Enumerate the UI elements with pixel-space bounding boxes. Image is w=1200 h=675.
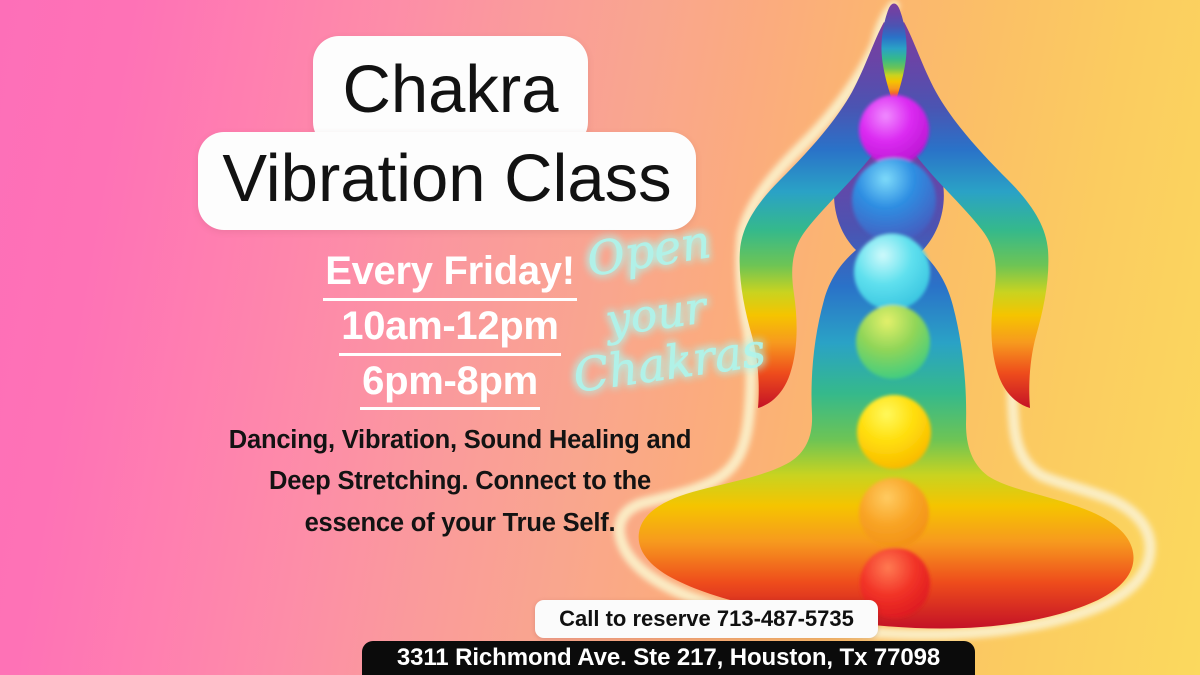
crown-chakra-orb [859,95,929,165]
schedule-time-morning: 10am-12pm [339,301,560,356]
schedule-day-row: Every Friday! [240,246,660,301]
schedule-time-evening: 6pm-8pm [360,356,540,411]
description-line-2: Deep Stretching. Connect to the [150,461,770,502]
schedule-evening-row: 6pm-8pm [240,356,660,411]
phone-reservation-box[interactable]: Call to reserve 713-487-5735 [535,600,878,638]
third-eye-chakra-orb [852,158,936,242]
heart-chakra-orb [856,305,930,379]
address-bar: 3311 Richmond Ave. Ste 217, Houston, Tx … [362,641,975,675]
flyer-canvas: Chakra Vibration Class Every Friday! 10a… [0,0,1200,675]
schedule-block: Every Friday! 10am-12pm 6pm-8pm [240,246,660,410]
description-line-1: Dancing, Vibration, Sound Healing and [150,420,770,461]
description-line-3: essence of your True Self. [150,503,770,544]
sacral-chakra-orb [859,478,929,548]
title-line-2: Vibration Class [198,132,696,230]
description-block: Dancing, Vibration, Sound Healing and De… [150,420,770,544]
schedule-day: Every Friday! [323,246,577,301]
schedule-morning-row: 10am-12pm [240,301,660,356]
throat-chakra-orb [854,234,930,310]
solar-plexus-chakra-orb [857,395,931,469]
